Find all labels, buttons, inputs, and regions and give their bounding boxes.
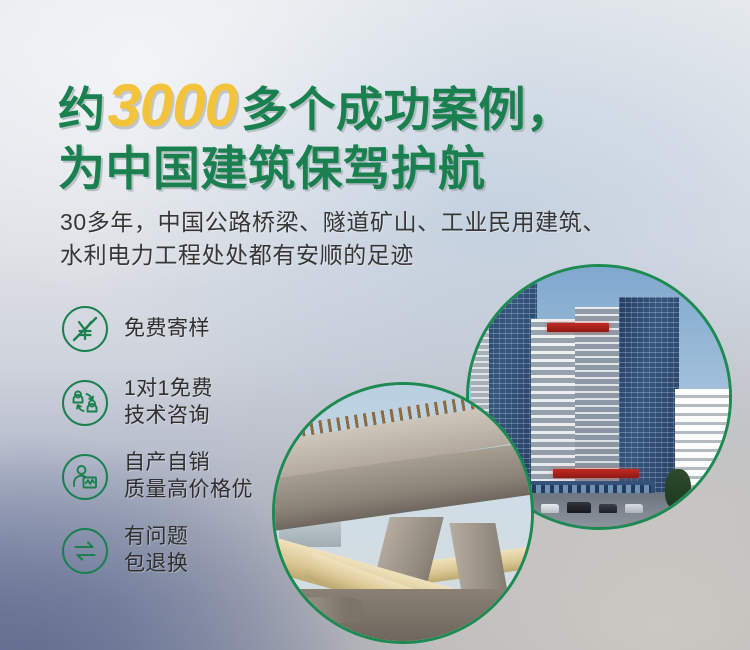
street-car: [625, 504, 643, 513]
promo-banner: 约3000多个成功案例， 为中国建筑保驾护航 30多年，中国公路桥梁、隧道矿山、…: [0, 0, 750, 650]
feature-item-free-sample[interactable]: 免费寄样: [62, 292, 253, 366]
return-exchange-icon: [62, 528, 108, 574]
feature-list: 免费寄样 1对1免费 技术咨询: [62, 292, 253, 588]
feature-text-line-2: 质量高价格优: [124, 477, 253, 504]
free-yuan-icon: [62, 306, 108, 352]
feature-text-line-1: 自产自销: [124, 450, 253, 477]
feature-item-consult[interactable]: 1对1免费 技术咨询: [62, 366, 253, 440]
feature-text-line-1: 有问题: [124, 524, 189, 551]
subcopy-line-2: 水利电力工程处处都有安顺的足迹: [60, 239, 606, 272]
street-car: [541, 504, 559, 513]
subcopy-line-1: 30多年，中国公路桥梁、隧道矿山、工业民用建筑、: [60, 206, 606, 239]
feature-text: 免费寄样: [124, 316, 210, 343]
bridge-photo: [272, 382, 534, 644]
feature-text: 1对1免费 技术咨询: [124, 376, 213, 430]
feature-text-line-2: 技术咨询: [124, 403, 213, 430]
self-produced-sales-icon: [62, 454, 108, 500]
headline-line-2: 为中国建筑保驾护航: [58, 145, 573, 192]
feature-text: 自产自销 质量高价格优: [124, 450, 253, 504]
street-car: [599, 504, 617, 513]
feature-text: 有问题 包退换: [124, 524, 189, 578]
building-rooftop-sign: [547, 323, 609, 332]
feature-text-line-1: 免费寄样: [124, 316, 210, 343]
feature-item-return-exchange[interactable]: 有问题 包退换: [62, 514, 253, 588]
headline: 约3000多个成功案例， 为中国建筑保驾护航: [58, 76, 573, 192]
bridge-photo-inner: [275, 385, 531, 641]
headline-prefix: 约: [58, 83, 106, 136]
street-car: [567, 502, 591, 513]
subcopy: 30多年，中国公路桥梁、隧道矿山、工业民用建筑、 水利电力工程处处都有安顺的足迹: [60, 206, 606, 271]
feature-text-line-1: 1对1免费: [124, 376, 213, 403]
feature-item-self-produced[interactable]: 自产自销 质量高价格优: [62, 440, 253, 514]
headline-number: 3000: [106, 72, 241, 139]
feature-text-line-2: 包退换: [124, 551, 189, 578]
bridge-rubble: [283, 597, 363, 623]
one-on-one-consult-icon: [62, 380, 108, 426]
headline-line-1: 约3000多个成功案例，: [58, 76, 573, 136]
headline-suffix: 多个成功案例，: [241, 83, 574, 136]
building-facade-sign: [553, 469, 639, 478]
street-tree: [665, 469, 691, 509]
